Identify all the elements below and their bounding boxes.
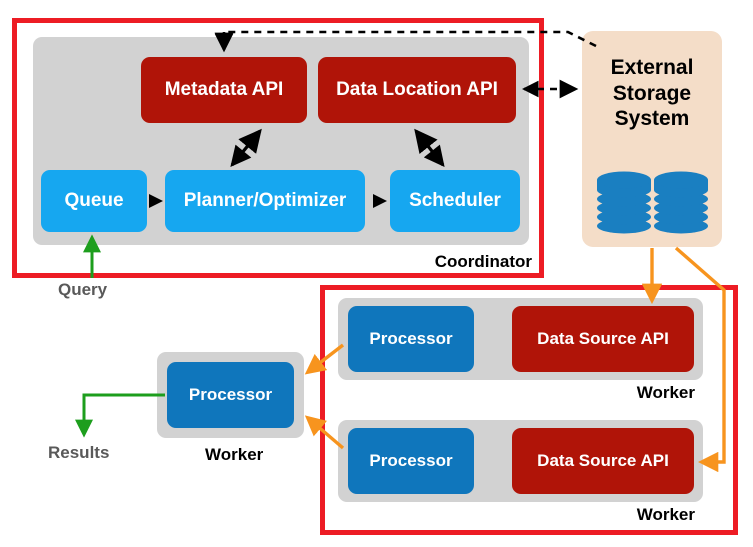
node-queue[interactable]: Queue [41,170,147,232]
node-metadata-api[interactable]: Metadata API [141,57,307,123]
connector-processor-to-results [84,395,165,434]
architecture-diagram: Metadata API Data Location API Queue Pla… [0,0,753,547]
query-label: Query [58,280,107,300]
node-scheduler[interactable]: Scheduler [390,170,520,232]
node-data-location-api[interactable]: Data Location API [318,57,516,123]
node-processor-left[interactable]: Processor [167,362,294,428]
database-stack-icon [592,168,712,238]
node-processor-a[interactable]: Processor [348,306,474,372]
node-planner-optimizer[interactable]: Planner/Optimizer [165,170,365,232]
node-data-source-api-b[interactable]: Data Source API [512,428,694,494]
results-label: Results [48,443,109,463]
worker-caption-a: Worker [560,383,695,403]
external-storage-line-3: System [582,106,722,132]
node-data-source-api-a[interactable]: Data Source API [512,306,694,372]
external-storage-line-2: Storage [582,81,722,107]
external-storage-label: External Storage System [582,55,722,132]
worker-caption-b: Worker [560,505,695,525]
external-storage-line-1: External [582,55,722,81]
worker-caption-left: Worker [205,445,315,465]
node-processor-b[interactable]: Processor [348,428,474,494]
coordinator-caption: Coordinator [400,252,532,272]
